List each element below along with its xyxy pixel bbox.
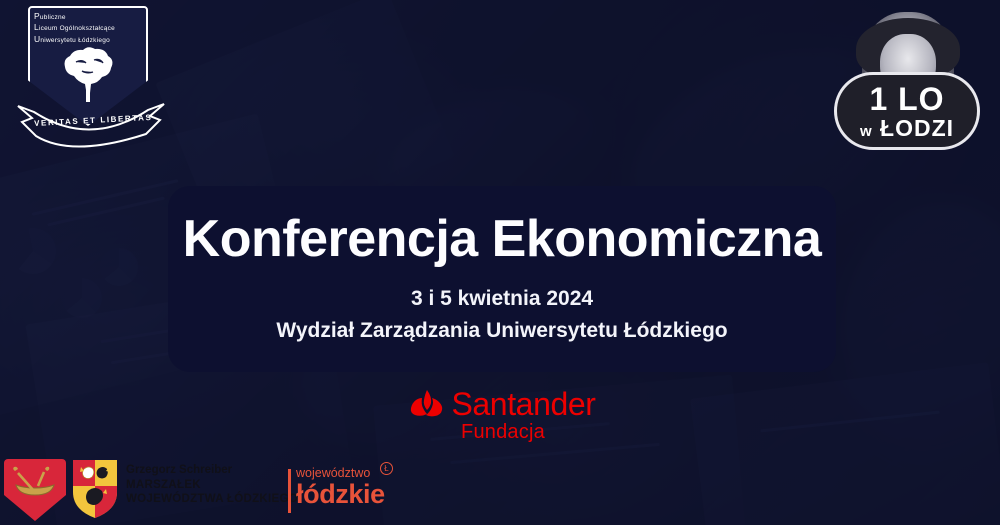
page-title: Konferencja Ekonomiczna: [183, 213, 822, 265]
lodzkie-voivodeship-coat-of-arms: [72, 459, 118, 519]
boat-with-oar-icon: [4, 459, 66, 521]
santander-subtitle: Fundacja: [398, 422, 608, 442]
conference-poster: Publiczne Liceum Ogólnokształcące Uniwer…: [0, 0, 1000, 525]
crest-name-line-2: Liceum Ogólnokształcące: [34, 22, 146, 33]
lodzkie-accent-bar: [288, 469, 291, 513]
oak-tree-icon: [58, 44, 118, 104]
lo-plaque-city: ŁODZI: [880, 115, 954, 141]
ul-high-school-crest: Publiczne Liceum Ogólnokształcące Uniwer…: [8, 4, 173, 154]
lodzkie-line-2: łódzkie: [296, 480, 418, 508]
crest-school-name: Publiczne Liceum Ogólnokształcące Uniwer…: [34, 11, 146, 45]
conference-venue: Wydział Zarządzania Uniwersytetu Łódzkie…: [276, 317, 727, 345]
lodzkie-line-1: województwo: [296, 467, 418, 480]
lodzkie-voivodeship-logo: województwo Ł łódzkie: [296, 467, 418, 508]
santander-logo: Santander Fundacja: [398, 388, 608, 450]
marshal-name: Grzegorz Schreiber: [126, 463, 311, 478]
marshal-text-block: Grzegorz Schreiber MARSZAŁEK WOJEWÓDZTWA…: [126, 463, 311, 507]
lodz-city-coat-of-arms: [4, 459, 66, 521]
lo-plaque-prefix: w: [860, 123, 873, 140]
santander-flame-icon: [410, 389, 444, 419]
crest-name-line-1: Publiczne: [34, 11, 146, 22]
title-panel: Konferencja Ekonomiczna 3 i 5 kwietnia 2…: [168, 186, 836, 372]
santander-wordmark: Santander: [451, 388, 595, 420]
marshal-region: WOJEWÓDZTWA ŁÓDZKIEGO: [126, 492, 311, 507]
marshal-title: MARSZAŁEK: [126, 478, 311, 493]
sponsor-strip: Grzegorz Schreiber MARSZAŁEK WOJEWÓDZTWA…: [0, 455, 1000, 525]
conference-date: 3 i 5 kwietnia 2024: [411, 285, 593, 313]
lo-plaque-line-1: 1 LO: [869, 83, 944, 115]
lodzkie-circle-mark: Ł: [380, 462, 393, 475]
1-lo-w-lodzi-logo: 1 LO w ŁODZI: [832, 12, 982, 160]
lo-plaque: 1 LO w ŁODZI: [834, 72, 980, 150]
lo-plaque-line-2: w ŁODZI: [860, 117, 954, 140]
